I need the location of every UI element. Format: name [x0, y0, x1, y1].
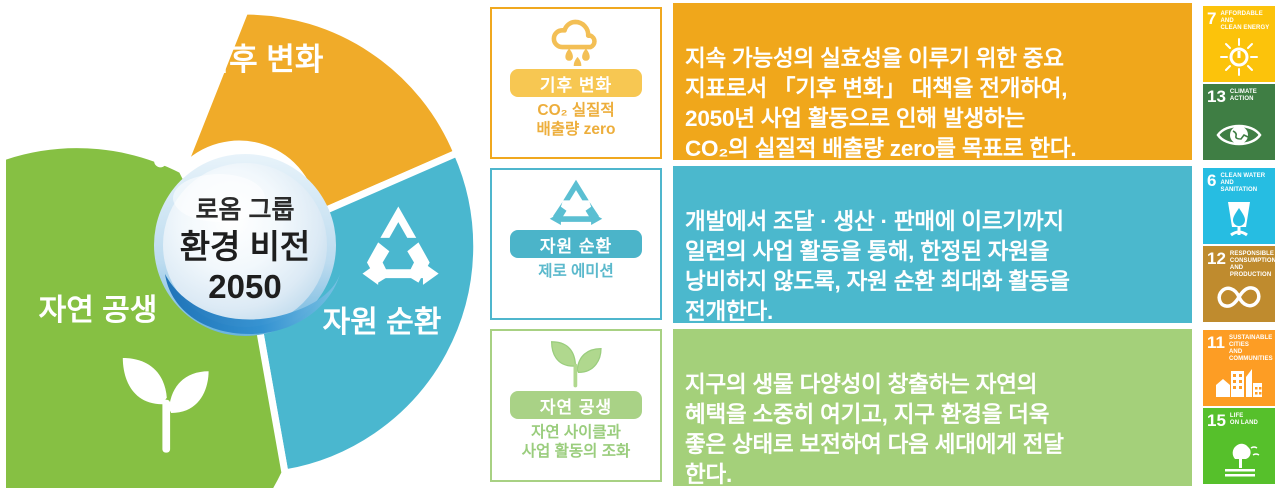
sdg-badge-7[interactable]: 7 AFFORDABLE AND CLEAN ENERGY	[1203, 6, 1275, 82]
card-pill-label: 자원 순환	[510, 230, 642, 258]
core-line-2: 환경 비전	[180, 228, 311, 265]
sdg-number: 7	[1207, 10, 1216, 27]
eye-globe-icon	[1203, 113, 1275, 157]
water-drop-glass-icon	[1203, 197, 1275, 241]
card-subtitle: 자연 사이클과 사업 활동의 조화	[522, 424, 630, 462]
recycle-icon	[545, 176, 607, 228]
sdg-badge-12[interactable]: 12 RESPONSIBLE CONSUMPTION AND PRODUCTIO…	[1203, 246, 1275, 322]
wedge-label-resource: 자원 순환	[323, 306, 442, 339]
panel-text: 지속 가능성의 실효성을 이루기 위한 중요 지표로서 「기후 변화」 대책을 …	[685, 46, 1076, 161]
sprout-icon	[546, 337, 606, 389]
card-subtitle: CO₂ 실질적 배출량 zero	[537, 102, 616, 140]
sdg-head: 6 CLEAN WATER AND SANITATION	[1203, 168, 1275, 194]
core-line-1: 로옴 그룹	[196, 196, 295, 224]
description-panel-climate-change: 지속 가능성의 실효성을 이루기 위한 중요 지표로서 「기후 변화」 대책을 …	[673, 3, 1192, 160]
panel-text: 지구의 생물 다양성이 창출하는 자연의 혜택을 소중히 여기고, 지구 환경을…	[685, 372, 1064, 487]
sdg-title: CLEAN WATER AND SANITATION	[1220, 172, 1272, 194]
vision-donut-diagram: 기후 변화 자원 순환 자연 공생 로옴 그룹 환경 비전 2050	[6, 2, 484, 488]
sdg-title: AFFORDABLE AND CLEAN ENERGY	[1220, 10, 1272, 32]
city-buildings-icon	[1203, 359, 1275, 403]
infographic-root: 기후 변화 자원 순환 자연 공생 로옴 그룹 환경 비전 2050	[0, 0, 1280, 489]
pillar-card-climate-change[interactable]: 기후 변화 CO₂ 실질적 배출량 zero	[490, 7, 662, 159]
sun-energy-icon	[1203, 35, 1275, 79]
sdg-title: LIFE ON LAND	[1230, 412, 1258, 427]
wedge-label-climate: 기후 변화	[201, 42, 324, 77]
description-panel-nature-coexistence: 지구의 생물 다양성이 창출하는 자연의 혜택을 소중히 여기고, 지구 환경을…	[673, 329, 1192, 486]
sdg-badge-6[interactable]: 6 CLEAN WATER AND SANITATION	[1203, 168, 1275, 244]
pillar-card-nature-coexistence[interactable]: 자연 공생 자연 사이클과 사업 활동의 조화	[490, 329, 662, 482]
sdg-head: 15 LIFE ON LAND	[1203, 408, 1275, 429]
sdg-number: 11	[1207, 334, 1225, 351]
sdg-head: 13 CLIMATE ACTION	[1203, 84, 1275, 105]
rain-cloud-icon	[544, 15, 608, 67]
tree-birds-icon	[1203, 437, 1275, 481]
card-pill-label: 기후 변화	[510, 69, 642, 97]
sdg-title: CLIMATE ACTION	[1230, 88, 1257, 103]
core-line-3: 2050	[208, 268, 281, 305]
infinity-loop-icon	[1203, 275, 1275, 319]
description-panel-resource-circulation: 개발에서 조달 · 생산 · 판매에 이르기까지 일련의 사업 활동을 통해, …	[673, 166, 1192, 323]
sdg-number: 6	[1207, 172, 1216, 189]
donut-svg: 기후 변화 자원 순환 자연 공생 로옴 그룹 환경 비전 2050	[6, 2, 484, 488]
sdg-badge-15[interactable]: 15 LIFE ON LAND	[1203, 408, 1275, 484]
sdg-number: 12	[1207, 250, 1226, 267]
sdg-number: 13	[1207, 88, 1226, 105]
card-pill-label: 자연 공생	[510, 391, 642, 419]
sdg-badge-11[interactable]: 11 SUSTAINABLE CITIES AND COMMUNITIES	[1203, 330, 1275, 406]
wedge-label-nature: 자연 공생	[39, 294, 158, 327]
sdg-head: 7 AFFORDABLE AND CLEAN ENERGY	[1203, 6, 1275, 32]
pillar-card-resource-circulation[interactable]: 자원 순환 제로 에미션	[490, 168, 662, 320]
sdg-number: 15	[1207, 412, 1226, 429]
card-subtitle: 제로 에미션	[538, 263, 614, 282]
sdg-badge-13[interactable]: 13 CLIMATE ACTION	[1203, 84, 1275, 160]
panel-text: 개발에서 조달 · 생산 · 판매에 이르기까지 일련의 사업 활동을 통해, …	[685, 209, 1070, 324]
